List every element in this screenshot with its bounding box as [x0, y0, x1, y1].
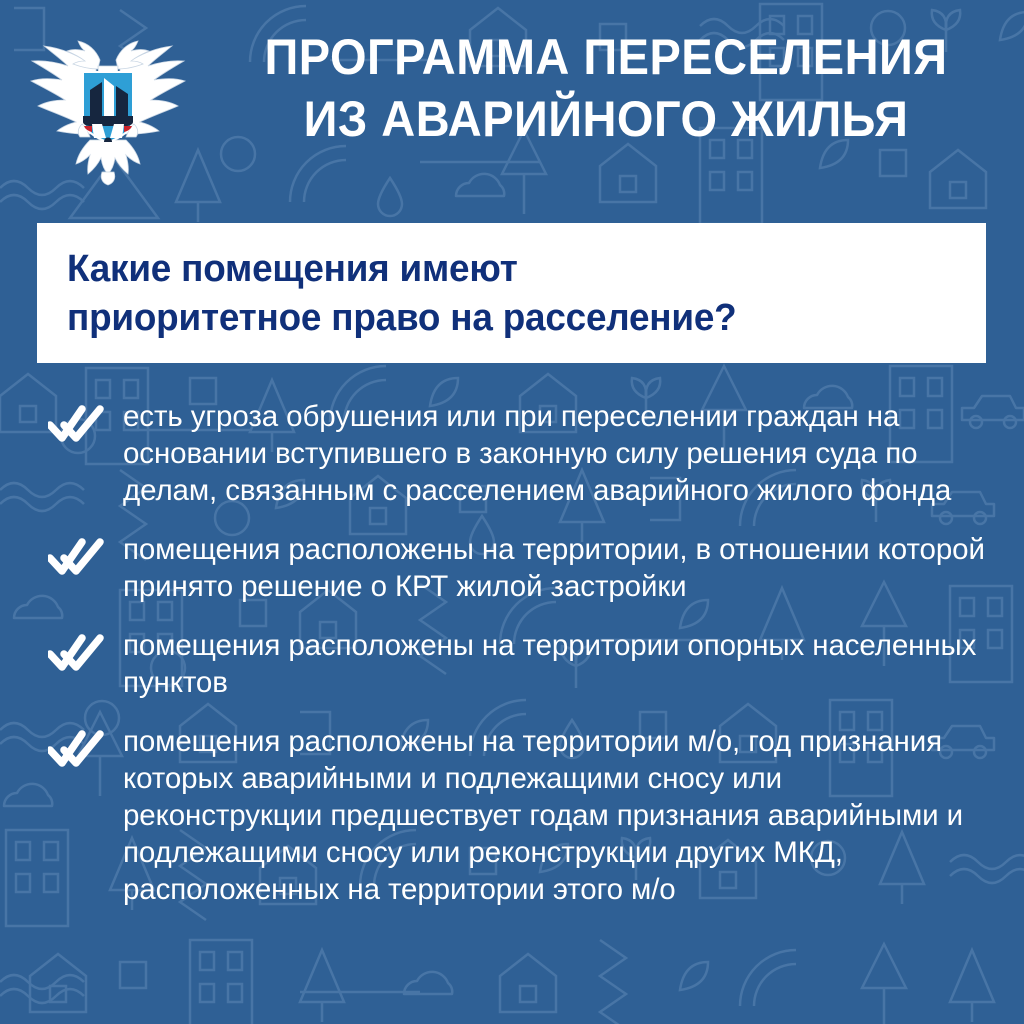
list-item-text: помещения расположены на территории, в о… — [123, 531, 988, 605]
infographic-poster: ПРОГРАММА ПЕРЕСЕЛЕНИЯ ИЗ АВАРИЙНОГО ЖИЛЬ… — [0, 0, 1024, 1024]
list-item: есть угроза обрушения или при переселени… — [48, 398, 988, 509]
list-item-text: есть угроза обрушения или при переселени… — [123, 398, 988, 509]
double-check-icon — [48, 538, 104, 576]
title-line-1: ПРОГРАММА ПЕРЕСЕЛЕНИЯ — [224, 26, 987, 88]
list-item: помещения расположены на территории м/о,… — [48, 723, 988, 908]
list-item-text: помещения расположены на территории м/о,… — [123, 723, 988, 908]
priority-criteria-list: есть угроза обрушения или при переселени… — [48, 398, 988, 930]
double-check-icon — [48, 405, 104, 443]
list-item: помещения расположены на территории, в о… — [48, 531, 988, 605]
list-item-text: помещения расположены на территории опор… — [123, 627, 988, 701]
title-line-2: ИЗ АВАРИЙНОГО ЖИЛЬЯ — [224, 88, 987, 150]
poster-header: ПРОГРАММА ПЕРЕСЕЛЕНИЯ ИЗ АВАРИЙНОГО ЖИЛЬ… — [0, 0, 1024, 200]
question-card: Какие помещения имеют приоритетное право… — [37, 223, 986, 363]
list-item: помещения расположены на территории опор… — [48, 627, 988, 701]
poster-title: ПРОГРАММА ПЕРЕСЕЛЕНИЯ ИЗ АВАРИЙНОГО ЖИЛЬ… — [200, 26, 1012, 150]
double-check-icon — [48, 730, 104, 768]
double-headed-eagle-emblem — [18, 16, 198, 186]
question-line-1: Какие помещения имеют — [67, 245, 929, 294]
double-check-icon — [48, 634, 104, 672]
question-line-2: приоритетное право на расселение? — [67, 294, 929, 343]
